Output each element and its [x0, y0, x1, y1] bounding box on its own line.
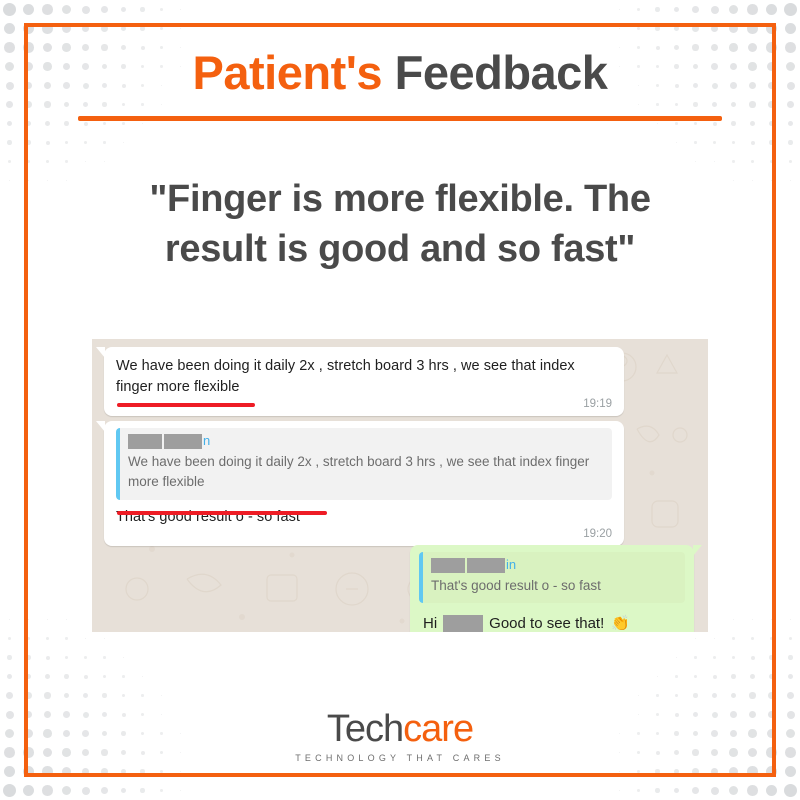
halftone-dot — [788, 140, 792, 144]
halftone-dot — [751, 637, 754, 640]
halftone-dot — [637, 789, 640, 792]
halftone-dot — [180, 9, 182, 11]
halftone-dot — [676, 657, 678, 659]
quoted-author-name: in — [431, 557, 676, 574]
halftone-dot — [752, 180, 754, 182]
halftone-dot — [64, 121, 69, 126]
halftone-dot — [7, 655, 11, 659]
halftone-dot — [638, 104, 639, 105]
message-text: We have been doing it daily 2x , stretch… — [116, 356, 612, 397]
halftone-dot — [66, 619, 67, 620]
halftone-dot — [693, 693, 697, 697]
halftone-dot — [142, 123, 144, 125]
halftone-dot — [62, 5, 71, 14]
message-text-after: Good to see that! — [489, 615, 604, 632]
red-highlight-underline — [117, 403, 255, 407]
halftone-dot — [161, 104, 162, 105]
halftone-dot — [656, 694, 658, 696]
halftone-dot — [140, 788, 144, 792]
halftone-dot — [637, 8, 640, 11]
halftone-dot — [84, 122, 88, 126]
halftone-dot — [46, 160, 49, 163]
quoted-author-suffix: n — [203, 433, 210, 450]
feedback-quote-line-2: result is good and so fast" — [90, 224, 710, 274]
halftone-dot — [788, 674, 794, 680]
halftone-dot — [26, 140, 30, 144]
halftone-dot — [180, 790, 182, 792]
brand-logo: Techcare TECHNOLOGY THAT CARES — [0, 710, 800, 763]
halftone-dot — [733, 619, 734, 620]
halftone-dot — [62, 767, 71, 776]
halftone-dot — [637, 770, 640, 773]
halftone-dot — [140, 26, 144, 30]
halftone-dot — [729, 5, 738, 14]
halftone-dot — [160, 27, 163, 30]
halftone-dot — [638, 695, 639, 696]
halftone-dot — [619, 790, 621, 792]
message-bubble[interactable]: n We have been doing it daily 2x , stret… — [104, 421, 624, 546]
halftone-dot — [769, 121, 775, 127]
halftone-dot — [785, 766, 797, 778]
halftone-dot — [655, 788, 659, 792]
halftone-dot — [766, 785, 778, 797]
halftone-dot — [123, 657, 125, 659]
halftone-dot — [27, 637, 30, 640]
halftone-dot — [122, 675, 125, 678]
brand-logo-second: care — [403, 708, 473, 750]
halftone-dot — [102, 693, 106, 697]
halftone-dot — [8, 160, 11, 163]
halftone-dot — [101, 768, 108, 775]
message-bubble[interactable]: in That's good result o - so fast Hi Goo… — [410, 545, 694, 632]
page-title-accent: Patient's — [193, 46, 383, 99]
halftone-dot — [7, 140, 11, 144]
halftone-dot — [766, 4, 778, 16]
halftone-dot — [62, 786, 71, 795]
halftone-dot — [789, 160, 792, 163]
halftone-dot — [46, 656, 50, 660]
halftone-dot — [160, 8, 163, 11]
halftone-dot — [788, 121, 794, 127]
halftone-dot — [713, 122, 717, 126]
halftone-dot — [655, 769, 659, 773]
halftone-dot — [82, 768, 90, 776]
halftone-dot — [784, 784, 797, 797]
halftone-dot — [27, 160, 30, 163]
halftone-dot — [769, 655, 773, 659]
quoted-reply-text: We have been doing it daily 2x , stretch… — [128, 452, 603, 493]
halftone-dot — [750, 121, 755, 126]
redaction-bar — [443, 615, 483, 632]
halftone-dot — [26, 655, 30, 659]
halftone-dot — [84, 656, 87, 659]
halftone-dot — [64, 102, 70, 108]
halftone-dot — [121, 769, 127, 775]
halftone-dot — [42, 766, 52, 776]
redaction-bar — [128, 434, 162, 449]
halftone-dot — [766, 766, 777, 777]
halftone-dot — [45, 121, 50, 126]
halftone-dot — [656, 103, 658, 105]
halftone-dot — [45, 674, 50, 679]
page-title-rest: Feedback — [382, 46, 607, 99]
message-text-before: Hi — [423, 615, 437, 632]
halftone-dot — [657, 676, 659, 678]
halftone-dot — [85, 638, 87, 640]
halftone-dot — [104, 638, 105, 639]
message-timestamp: 19:20 — [116, 528, 612, 540]
halftone-corner-bottom-left — [0, 610, 190, 800]
halftone-dot — [82, 6, 90, 14]
halftone-dot — [82, 787, 90, 795]
brand-logo-wordmark: Techcare — [0, 710, 800, 748]
quoted-reply-block[interactable]: n We have been doing it daily 2x , stret… — [116, 428, 612, 500]
halftone-dot — [747, 785, 758, 796]
halftone-dot — [695, 161, 696, 162]
halftone-dot — [771, 619, 773, 621]
halftone-dot — [121, 788, 127, 794]
halftone-dot — [103, 656, 105, 658]
halftone-dot — [712, 102, 717, 107]
halftone-dot — [694, 122, 697, 125]
halftone-dot — [42, 23, 52, 33]
halftone-dot — [140, 769, 144, 773]
halftone-dot — [122, 103, 125, 106]
halftone-dot — [4, 766, 16, 778]
halftone-dot — [7, 121, 13, 127]
halftone-dot — [769, 674, 775, 680]
halftone-dot — [731, 121, 736, 126]
halftone-dot — [25, 101, 32, 108]
halftone-dot — [692, 25, 699, 32]
halftone-dot — [25, 692, 32, 699]
halftone-dot — [674, 769, 680, 775]
halftone-dot — [65, 656, 69, 660]
halftone-dot — [46, 637, 49, 640]
halftone-dot — [83, 693, 88, 698]
halftone-dot — [619, 771, 621, 773]
halftone-dot — [42, 785, 53, 796]
halftone-dot — [160, 770, 163, 773]
halftone-dot — [62, 24, 71, 33]
halftone-dot — [731, 693, 737, 699]
halftone-dot — [674, 26, 680, 32]
halftone-dot — [733, 180, 734, 181]
halftone-dot — [180, 771, 182, 773]
halftone-dot — [749, 692, 755, 698]
halftone-dot — [770, 637, 773, 640]
halftone-dot — [750, 674, 755, 679]
halftone-dot — [103, 675, 106, 678]
halftone-dot — [747, 766, 757, 776]
feedback-quote: "Finger is more flexible. The result is … — [90, 174, 710, 274]
halftone-dot — [23, 785, 35, 797]
halftone-dot — [732, 656, 736, 660]
halftone-dot — [46, 141, 50, 145]
brand-logo-first: Tech — [327, 708, 403, 750]
halftone-dot — [122, 694, 125, 697]
halftone-dot — [66, 180, 67, 181]
halftone-dot — [121, 26, 127, 32]
halftone-dot — [675, 103, 678, 106]
halftone-dot — [771, 180, 773, 182]
message-text: Hi Good to see that! 👏 — [419, 610, 685, 632]
halftone-dot — [732, 637, 734, 639]
halftone-dot — [749, 101, 755, 107]
halftone-dot — [714, 161, 716, 163]
halftone-dot — [714, 638, 716, 640]
halftone-dot — [732, 141, 736, 145]
halftone-dot — [82, 25, 90, 33]
halftone-dot — [675, 694, 678, 697]
whatsapp-chat-screenshot: We have been doing it daily 2x , stretch… — [92, 339, 708, 632]
halftone-dot — [713, 675, 717, 679]
halftone-dot — [85, 161, 87, 163]
halftone-dot — [122, 122, 125, 125]
title-divider-rule — [78, 116, 722, 121]
halftone-dot — [123, 142, 125, 144]
halftone-dot — [637, 27, 640, 30]
halftone-dot — [692, 6, 699, 13]
halftone-dot — [731, 102, 737, 108]
halftone-dot — [65, 141, 69, 145]
halftone-dot — [747, 4, 758, 15]
halftone-dot — [9, 180, 11, 182]
halftone-dot — [141, 694, 143, 696]
halftone-dot — [44, 101, 50, 107]
halftone-dot — [101, 787, 108, 794]
halftone-dot — [751, 656, 755, 660]
clapping-hands-icon: 👏 — [611, 614, 630, 632]
halftone-dot — [788, 655, 792, 659]
halftone-dot — [694, 675, 697, 678]
halftone-dot — [675, 122, 678, 125]
halftone-dot — [141, 103, 143, 105]
halftone-dot — [747, 23, 757, 33]
halftone-dot — [712, 693, 717, 698]
halftone-dot — [103, 141, 105, 143]
halftone-dot — [140, 7, 144, 11]
quoted-reply-text: That's good result o - so fast — [431, 576, 676, 596]
halftone-dot — [3, 3, 16, 16]
halftone-dot — [64, 674, 69, 679]
halftone-dot — [729, 767, 738, 776]
chat-message-incoming-1[interactable]: We have been doing it daily 2x , stretch… — [104, 347, 624, 416]
halftone-dot — [729, 24, 738, 33]
halftone-dot — [103, 122, 106, 125]
feedback-quote-line-1: "Finger is more flexible. The — [90, 174, 710, 224]
halftone-dot — [102, 102, 106, 106]
chat-message-incoming-2[interactable]: n We have been doing it daily 2x , stret… — [104, 421, 624, 546]
halftone-dot — [23, 766, 34, 777]
halftone-dot — [180, 28, 182, 30]
halftone-dot — [674, 7, 680, 13]
halftone-dot — [790, 180, 792, 182]
page-title: Patient's Feedback — [0, 48, 800, 97]
halftone-dot — [619, 9, 621, 11]
halftone-dot — [787, 692, 794, 699]
halftone-dot — [7, 674, 13, 680]
halftone-dot — [693, 102, 697, 106]
halftone-dot — [47, 180, 49, 182]
halftone-dot — [28, 619, 30, 621]
halftone-dot — [655, 26, 659, 30]
halftone-dot — [692, 787, 699, 794]
halftone-dot — [6, 101, 13, 108]
redaction-bar — [431, 558, 465, 573]
chat-message-outgoing-1[interactable]: in That's good result o - so fast Hi Goo… — [410, 545, 694, 632]
brand-tagline: TECHNOLOGY THAT CARES — [0, 753, 800, 763]
quoted-author-suffix: in — [506, 557, 516, 574]
halftone-dot — [42, 4, 53, 15]
halftone-dot — [751, 141, 755, 145]
halftone-dot — [121, 7, 127, 13]
halftone-dot — [23, 4, 35, 16]
halftone-dot — [84, 675, 88, 679]
halftone-dot — [101, 25, 108, 32]
halftone-dot — [768, 692, 775, 699]
halftone-dot — [44, 692, 50, 698]
halftone-dot — [28, 180, 30, 182]
halftone-dot — [731, 674, 736, 679]
halftone-dot — [729, 786, 738, 795]
halftone-dot — [101, 6, 108, 13]
halftone-dot — [83, 102, 88, 107]
halftone-dot — [47, 619, 49, 621]
halftone-dot — [84, 141, 87, 144]
halftone-dot — [65, 160, 67, 162]
redaction-bar — [164, 434, 202, 449]
halftone-dot — [711, 787, 719, 795]
halftone-corner-bottom-right — [610, 610, 800, 800]
halftone-dot — [26, 674, 32, 680]
red-highlight-underline — [117, 511, 327, 515]
halftone-dot — [790, 619, 792, 621]
halftone-dot — [9, 619, 11, 621]
halftone-dot — [674, 788, 680, 794]
halftone-dot — [694, 141, 696, 143]
poster-canvas: Patient's Feedback "Finger is more flexi… — [0, 0, 800, 800]
halftone-dot — [711, 768, 719, 776]
halftone-dot — [785, 23, 797, 35]
halftone-dot — [676, 142, 678, 144]
halftone-dot — [4, 23, 16, 35]
quoted-author-name: n — [128, 433, 603, 450]
halftone-dot — [695, 638, 696, 639]
halftone-dot — [161, 695, 162, 696]
halftone-dot — [6, 692, 13, 699]
halftone-dot — [104, 161, 105, 162]
halftone-dot — [711, 6, 719, 14]
halftone-dot — [3, 784, 16, 797]
halftone-dot — [768, 101, 775, 108]
halftone-dot — [655, 7, 659, 11]
halftone-dot — [65, 637, 67, 639]
halftone-dot — [711, 25, 719, 33]
halftone-dot — [26, 121, 32, 127]
halftone-dot — [752, 619, 754, 621]
halftone-dot — [784, 3, 797, 16]
halftone-dot — [766, 23, 777, 34]
halftone-dot — [694, 656, 696, 658]
halftone-dot — [713, 141, 716, 144]
halftone-dot — [23, 23, 34, 34]
halftone-dot — [657, 123, 659, 125]
halftone-dot — [619, 28, 621, 30]
halftone-dot — [732, 160, 734, 162]
halftone-dot — [770, 160, 773, 163]
halftone-dot — [692, 768, 699, 775]
halftone-dot — [675, 675, 678, 678]
halftone-dot — [787, 101, 794, 108]
halftone-dot — [160, 789, 163, 792]
halftone-dot — [769, 140, 773, 144]
halftone-dot — [789, 637, 792, 640]
halftone-dot — [64, 693, 70, 699]
halftone-dot — [8, 637, 11, 640]
redaction-bar — [467, 558, 505, 573]
quoted-reply-block[interactable]: in That's good result o - so fast — [419, 552, 685, 603]
halftone-dot — [751, 160, 754, 163]
halftone-dot — [142, 676, 144, 678]
halftone-dot — [713, 656, 716, 659]
message-text: That's good result o - so fast — [116, 507, 612, 528]
